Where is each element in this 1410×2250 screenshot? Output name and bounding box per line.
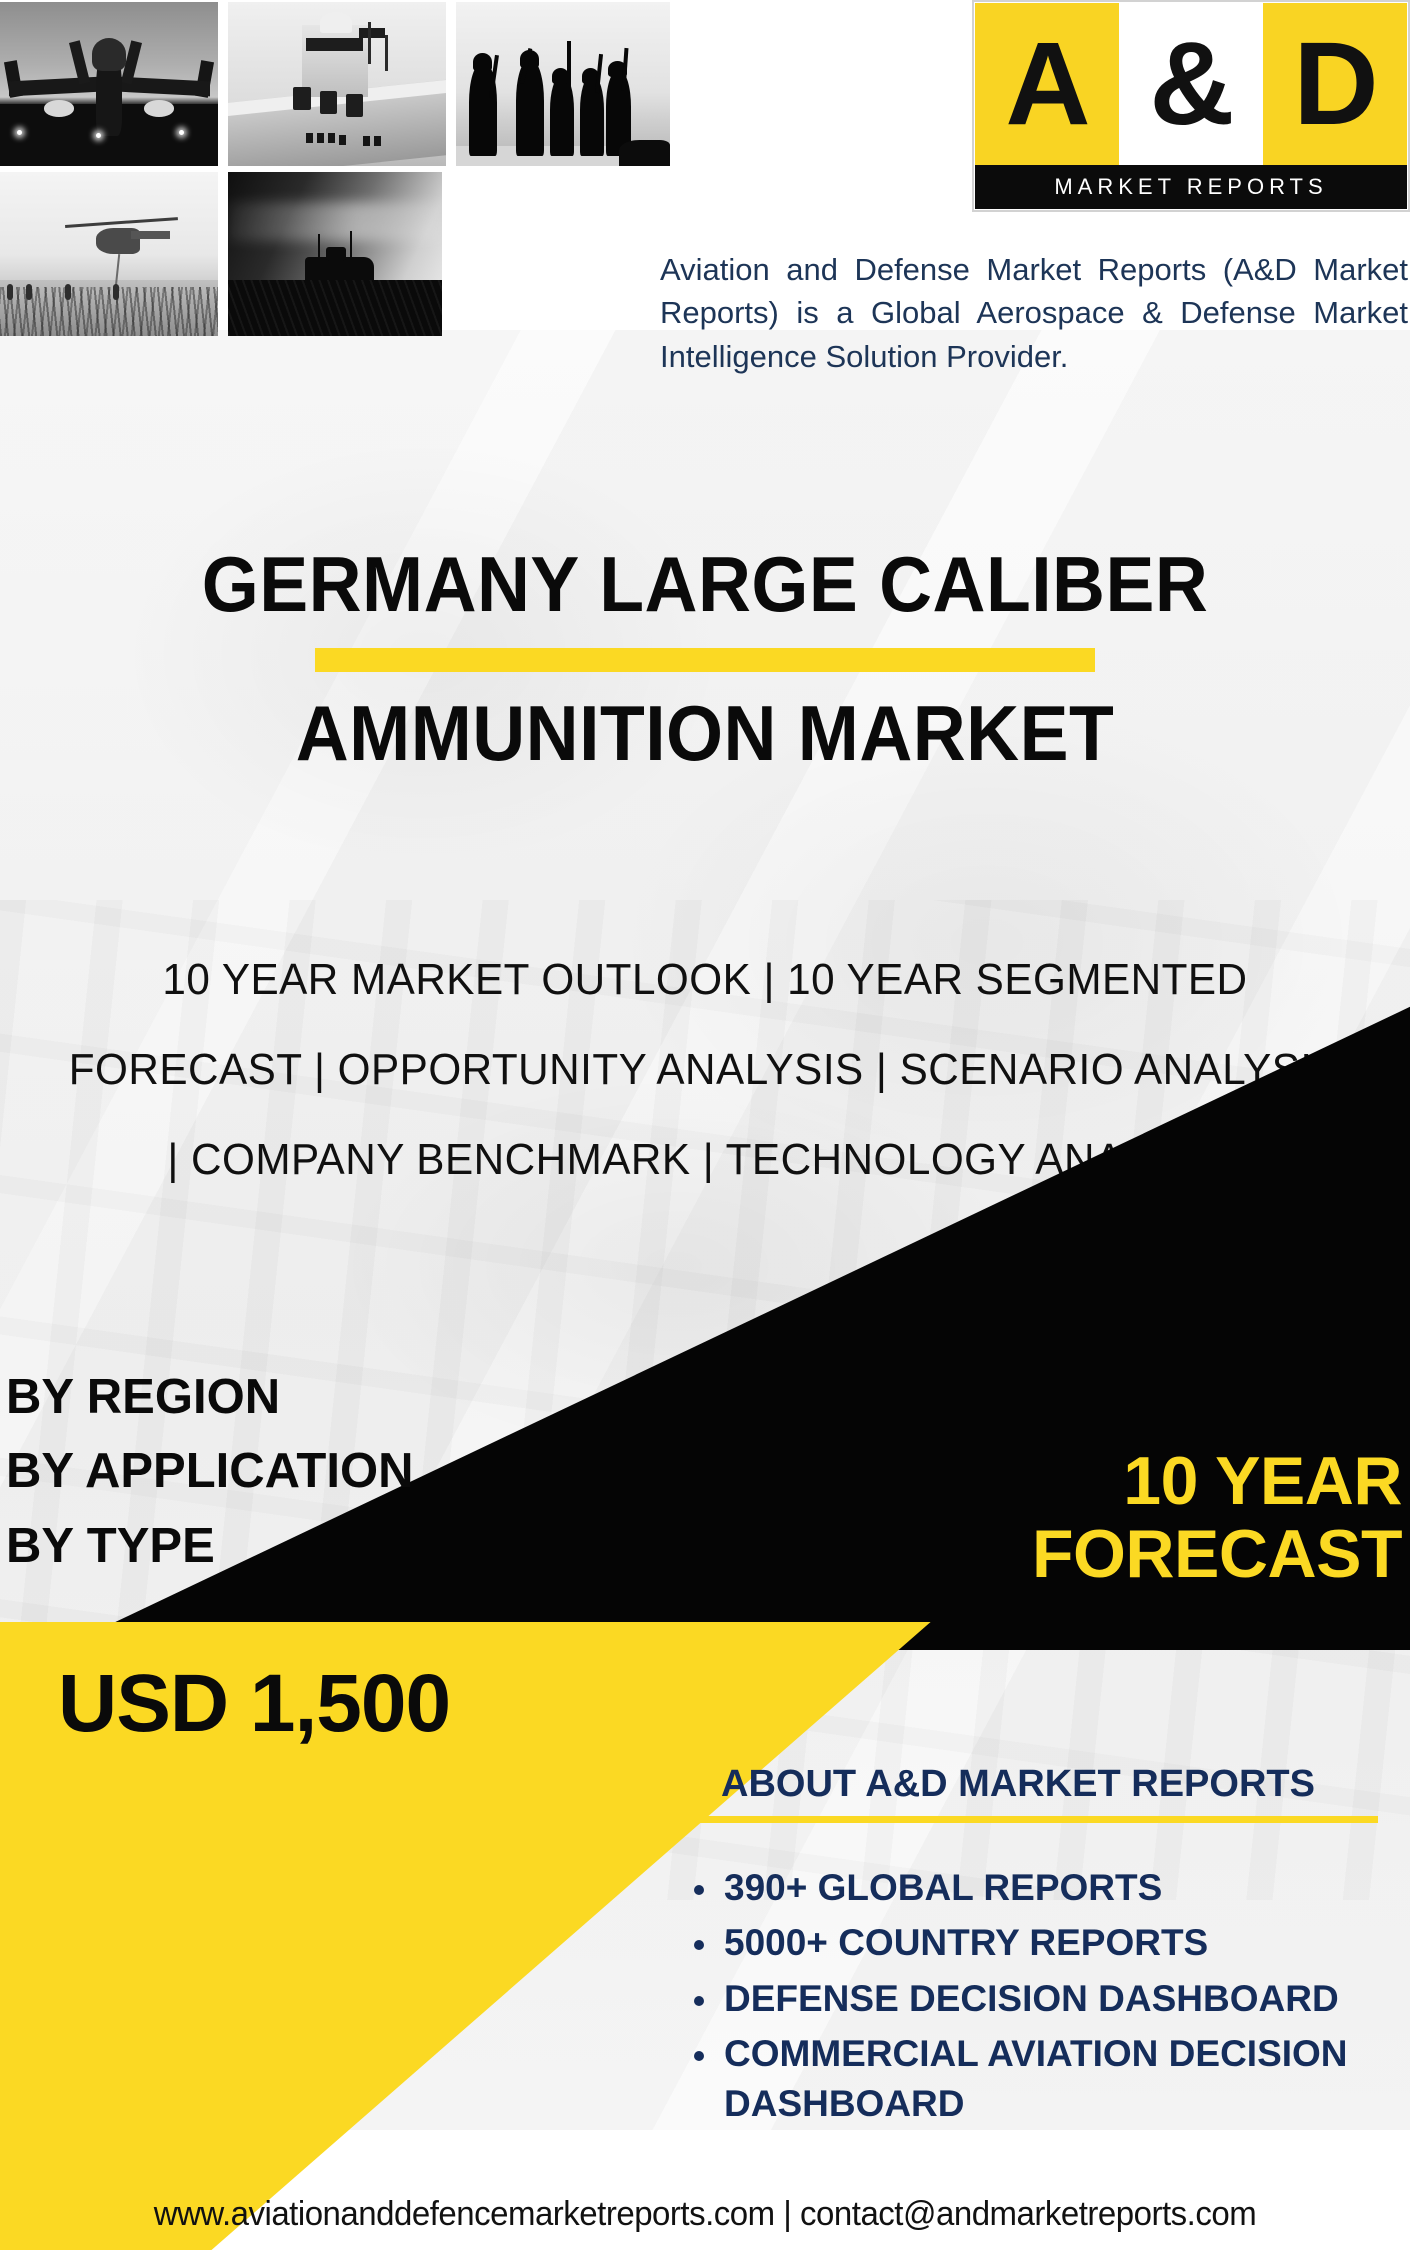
report-poster: A & D MARKET REPORTS Aviation and Defens…	[0, 0, 1410, 2250]
segment-by-region: BY REGION	[6, 1360, 413, 1434]
list-item: COMMERCIAL AVIATION DECISION DASHBOARD	[718, 2029, 1388, 2128]
segment-by-application: BY APPLICATION	[6, 1434, 413, 1508]
segment-by-type: BY TYPE	[6, 1509, 413, 1583]
about-section: ABOUT A&D MARKET REPORTS 390+ GLOBAL REP…	[648, 1762, 1388, 2134]
title-underline-bar	[315, 648, 1095, 672]
logo-ampersand: &	[1119, 3, 1263, 165]
company-description: Aviation and Defense Market Reports (A&D…	[660, 248, 1408, 378]
list-item: 390+ GLOBAL REPORTS	[718, 1863, 1388, 1913]
fighter-jet-photo	[0, 2, 218, 166]
brand-logo: A & D MARKET REPORTS	[972, 0, 1410, 212]
aircraft-carrier-photo	[228, 2, 446, 166]
list-item: DEFENSE DECISION DASHBOARD	[718, 1974, 1388, 2024]
soldiers-silhouette-photo	[456, 2, 670, 166]
about-heading: ABOUT A&D MARKET REPORTS	[648, 1762, 1388, 1808]
page-title: GERMANY LARGE CALIBER AMMUNITION MARKET	[0, 545, 1410, 772]
logo-letters: A & D	[972, 0, 1410, 165]
military-helicopter-photo	[0, 172, 218, 336]
footer-contact: www.aviationanddefencemarketreports.com …	[21, 2195, 1389, 2234]
about-bullet-list: 390+ GLOBAL REPORTS 5000+ COUNTRY REPORT…	[648, 1863, 1388, 2129]
forecast-badge-line-1: 10 YEAR	[842, 1445, 1402, 1518]
photo-strip	[0, 0, 660, 340]
title-line-1: GERMANY LARGE CALIBER	[42, 545, 1367, 623]
title-line-2: AMMUNITION MARKET	[42, 694, 1367, 772]
segmentation-list: BY REGION BY APPLICATION BY TYPE	[6, 1360, 413, 1583]
forecast-badge: 10 YEAR FORECAST	[842, 1445, 1410, 1592]
logo-letter-a: A	[975, 3, 1119, 165]
price-value: USD 1,500	[58, 1663, 450, 1745]
forecast-badge-line-2: FORECAST	[842, 1518, 1402, 1591]
list-item: 5000+ COUNTRY REPORTS	[718, 1918, 1388, 1968]
logo-letter-d: D	[1263, 3, 1407, 165]
logo-tagline: MARKET REPORTS	[975, 165, 1407, 209]
about-underline-bar	[656, 1816, 1378, 1823]
armoured-vehicle-photo	[228, 172, 442, 336]
